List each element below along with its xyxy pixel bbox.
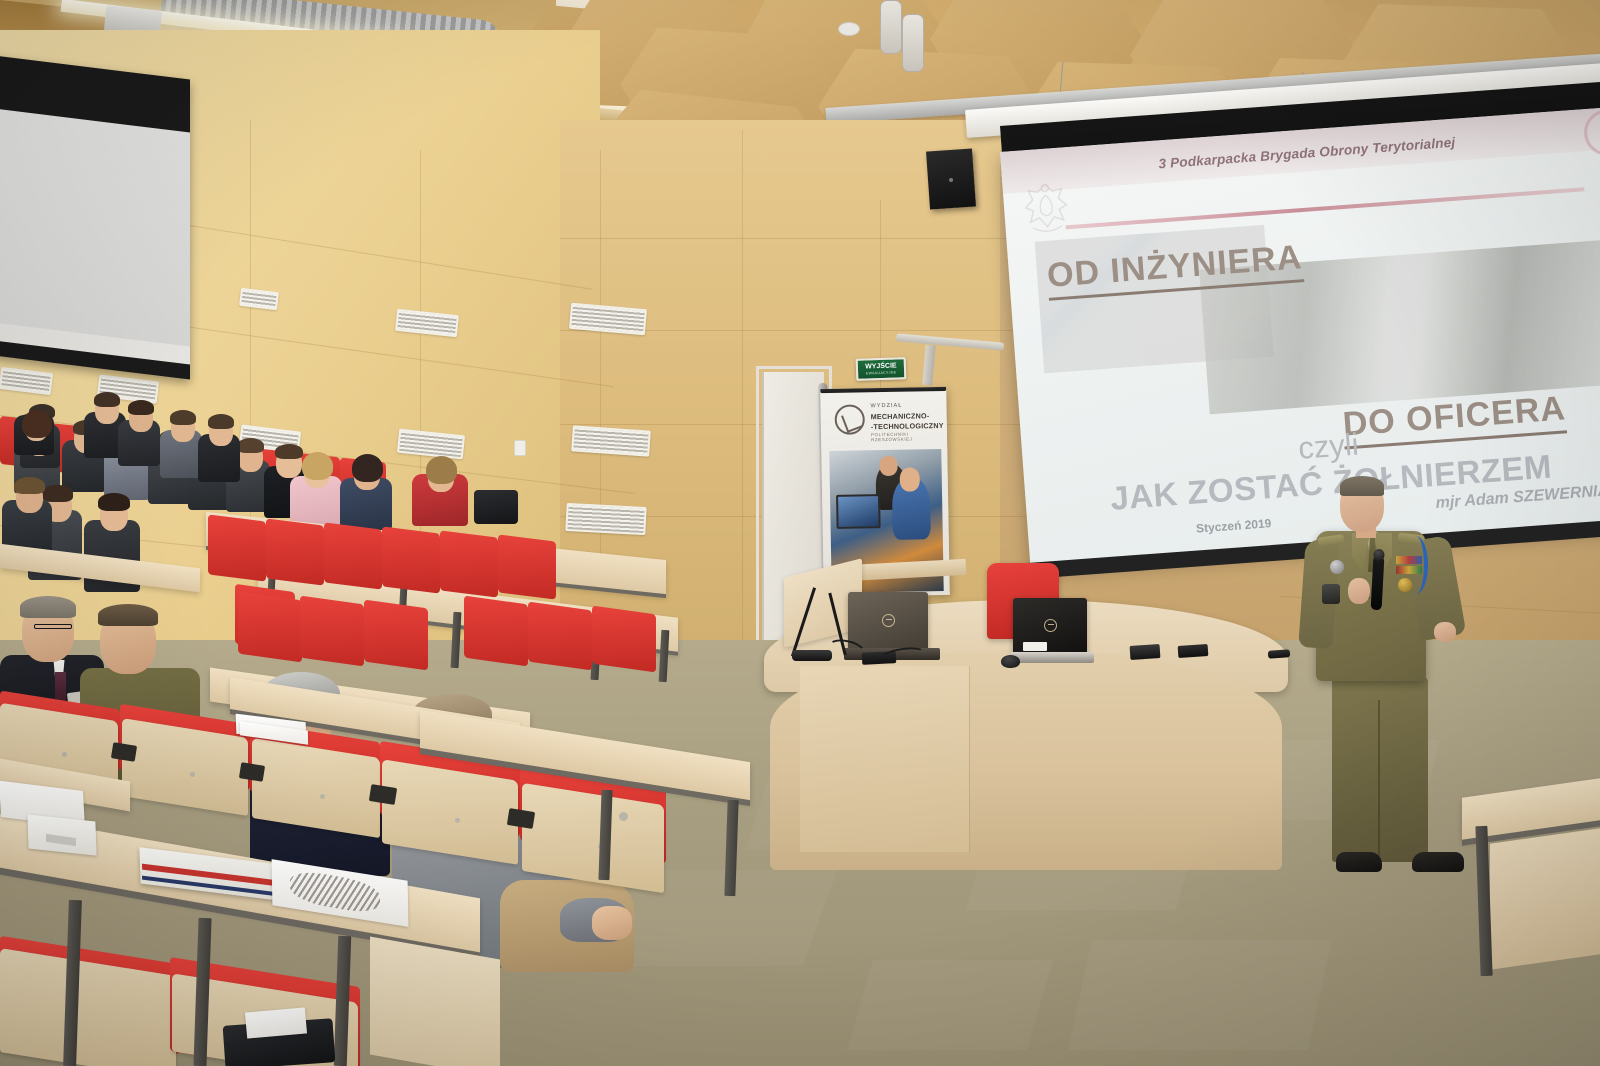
dell-logo-icon	[882, 614, 895, 627]
microphone-base	[792, 650, 832, 661]
rollup-banner-top-bar	[820, 387, 946, 393]
presentation-slide: 3 Podkarpacka Brygada Obrony Terytorialn…	[1000, 107, 1600, 569]
right-desk-panel	[1490, 828, 1600, 969]
presentation-clicker[interactable]	[1268, 649, 1291, 659]
slide-accent-rule	[1066, 187, 1585, 229]
smoke-detector-icon	[838, 22, 860, 36]
podium-front-panel	[800, 666, 970, 852]
desk-device[interactable]	[1130, 644, 1161, 660]
presenter-ribbon-bar	[1396, 566, 1422, 574]
slide-date: Styczeń 2019	[1196, 516, 1272, 535]
name-tent-card	[27, 814, 96, 855]
presenter-unit-patch	[1322, 584, 1340, 604]
presenter-ribbon-bar	[1396, 556, 1422, 564]
secondary-projection-screen	[0, 108, 190, 348]
presenter-medal	[1398, 578, 1412, 592]
presenter-shoe-right	[1412, 852, 1464, 872]
attendee-hand	[592, 906, 632, 940]
presenter-hand-right	[1434, 622, 1456, 642]
attendee-hair	[20, 596, 76, 618]
air-vent-grille	[565, 503, 646, 535]
presenter-badge	[1330, 560, 1344, 574]
pendant-light	[902, 14, 924, 72]
air-vent-grille	[571, 425, 651, 456]
desk-modesty-panel	[370, 937, 500, 1066]
computer-mouse[interactable]	[1001, 655, 1020, 668]
soldier-hair	[98, 604, 158, 626]
notebook	[245, 1007, 307, 1038]
main-projection-screen: 3 Podkarpacka Brygada Obrony Terytorialn…	[1000, 107, 1600, 569]
wall-speaker	[926, 148, 976, 209]
banner-person-face-2	[879, 456, 897, 476]
presenter-leg-seam	[1378, 700, 1380, 860]
presenter-hand-left	[1348, 578, 1370, 604]
faculty-emblem	[834, 404, 865, 435]
dell-logo-icon	[1044, 619, 1057, 632]
laptop-label-sticker	[1023, 642, 1047, 651]
banner-line4: POLITECHNIKI RZESZOWSKIEJ	[871, 431, 947, 442]
attendee-glasses	[34, 624, 72, 629]
desk-device[interactable]	[1178, 644, 1209, 658]
wall-switch	[514, 440, 526, 456]
emergency-exit-sign: WYJŚCIE EWAKUACYJNE	[856, 357, 907, 381]
pendant-light	[880, 0, 902, 54]
banner-line2: MECHANICZNO-	[871, 411, 930, 421]
exit-sign-line2: EWAKUACYJNE	[866, 370, 897, 376]
presenter-hair	[1340, 476, 1384, 496]
banner-line1: WYDZIAŁ	[870, 403, 902, 410]
presenter-legs	[1332, 676, 1428, 862]
banner-line3: -TECHNOLOGICZNY	[871, 421, 944, 431]
lecture-hall-photo: 3 Podkarpacka Brygada Obrony Terytorialn…	[0, 0, 1600, 1066]
banner-monitor	[836, 494, 881, 529]
presenter-shoe-left	[1336, 852, 1382, 872]
banner-person-face	[900, 467, 920, 491]
